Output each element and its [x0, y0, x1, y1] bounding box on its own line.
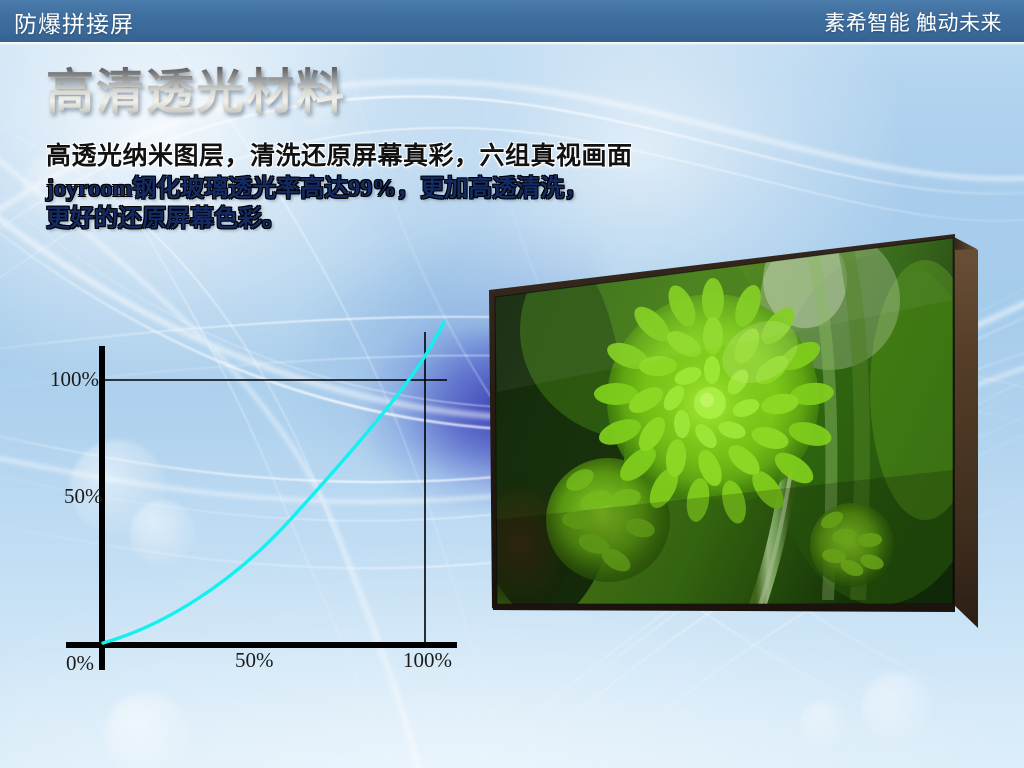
body-highlight-line: 高透光纳米图层，清洗还原屏幕真彩，六组真视画面 — [46, 136, 633, 172]
header-bar: 防爆拼接屏 素希智能 触动未来 — [0, 0, 1024, 42]
background-bottom-glow — [0, 548, 1024, 768]
header-title: 防爆拼接屏 — [14, 5, 134, 39]
header-underline — [0, 42, 1024, 45]
page-title: 高清透光材料 — [46, 52, 346, 122]
body-paragraph-line-1: joyroom钢化玻璃透光率高达99%，更加高透清洗， — [46, 174, 666, 204]
slide-canvas: 100% 50% 0% 50% 100% — [0, 0, 1024, 768]
body-paragraph-line-2: 更好的还原屏幕色彩。 — [46, 204, 666, 234]
body-paragraph: joyroom钢化玻璃透光率高达99%，更加高透清洗， 更好的还原屏幕色彩。 — [46, 174, 666, 234]
header-slogan: 素希智能 触动未来 — [824, 7, 1002, 37]
